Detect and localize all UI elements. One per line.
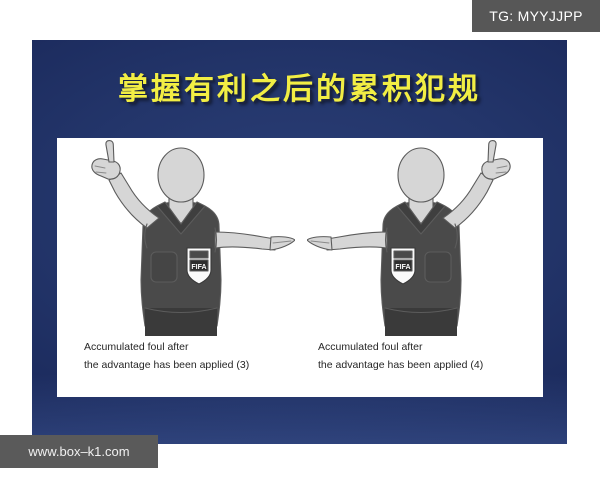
status-badge: TG: MYYJJPP (472, 0, 600, 32)
caption-left: Accumulated foul after the advantage has… (84, 338, 249, 374)
page-title: 掌握有利之后的累积犯规 (32, 64, 567, 108)
caption-right-line2: the advantage has been applied (4) (318, 356, 483, 374)
fifa-badge-icon: FIFA (187, 248, 211, 284)
caption-right-line1: Accumulated foul after (318, 338, 483, 356)
referee-figure-left: FIFA (65, 140, 295, 336)
caption-left-line1: Accumulated foul after (84, 338, 249, 356)
svg-text:FIFA: FIFA (395, 264, 410, 271)
presentation-slide: 掌握有利之后的累积犯规 (32, 40, 567, 444)
figures-row: FIFA (57, 138, 543, 334)
watermark-label: www.box–k1.com (28, 444, 129, 459)
svg-text:FIFA: FIFA (191, 264, 206, 271)
fifa-badge-icon: FIFA (391, 248, 415, 284)
watermark: www.box–k1.com (0, 435, 158, 468)
tg-badge-label: TG: MYYJJPP (489, 8, 583, 24)
referee-figure-right: FIFA (307, 140, 537, 336)
content-panel: FIFA (57, 138, 543, 397)
caption-right: Accumulated foul after the advantage has… (318, 338, 483, 374)
caption-left-line2: the advantage has been applied (3) (84, 356, 249, 374)
